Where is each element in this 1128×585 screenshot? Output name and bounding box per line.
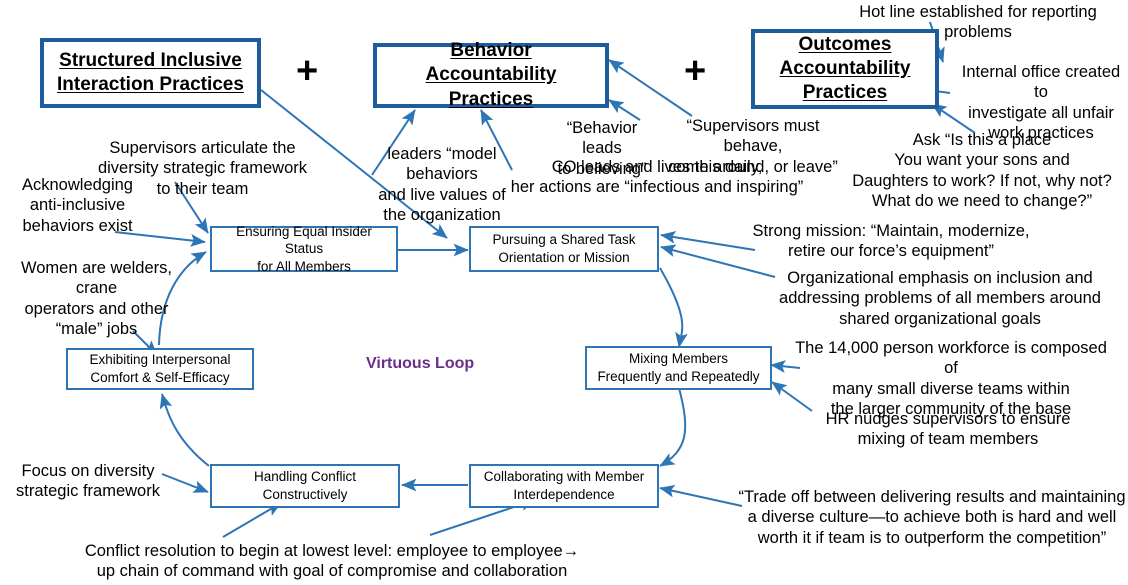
note-hotline: Hot line established for reporting probl… <box>828 2 1128 43</box>
pillar3-line2: Accountability <box>780 58 911 79</box>
pillar1-line2: Interaction Practices <box>57 74 244 95</box>
node-exhibiting-line2: Comfort & Self-Efficacy <box>90 370 229 385</box>
edge-pursuing-to-mixing <box>660 268 682 347</box>
note-conflict-resolution: Conflict resolution to begin at lowest l… <box>52 541 612 582</box>
note-acknowledging-anti-inclusive: Acknowledging anti-inclusive behaviors e… <box>10 175 145 236</box>
edge-tradeoff-to-collaborating <box>660 488 742 506</box>
edge-supervisors-to-pillar2 <box>609 60 692 116</box>
node-mixing-line2: Frequently and Repeatedly <box>597 369 759 384</box>
edge-conflictres-to-handling <box>223 503 281 537</box>
node-collaborating-member-interdependence[interactable]: Collaborating with Member Interdependenc… <box>469 464 659 508</box>
pillar2-line1: Behavior Accountability <box>426 40 557 85</box>
node-exhibiting-interpersonal-comfort[interactable]: Exhibiting Interpersonal Comfort & Self-… <box>66 348 254 390</box>
pillar1-line1: Structured Inclusive <box>59 50 242 71</box>
node-pursuing-line1: Pursuing a Shared Task <box>492 232 635 247</box>
edge-handling-to-exhibiting <box>162 394 209 466</box>
node-ensuring-line2: for All Members <box>257 259 351 274</box>
note-hr-nudges: HR nudges supervisors to ensure mixing o… <box>808 409 1088 450</box>
node-exhibiting-line1: Exhibiting Interpersonal <box>89 352 230 367</box>
pillar-structured-inclusive[interactable]: Structured Inclusive Interaction Practic… <box>40 38 261 108</box>
node-pursuing-shared-task[interactable]: Pursuing a Shared Task Orientation or Mi… <box>469 226 659 272</box>
node-handling-line2: Constructively <box>263 487 348 502</box>
node-handling-line1: Handling Conflict <box>254 469 356 484</box>
note-focus-on-diversity: Focus on diversity strategic framework <box>8 461 168 502</box>
node-collaborating-line1: Collaborating with Member <box>484 469 645 484</box>
pillar-behavior-accountability[interactable]: Behavior Accountability Practices <box>373 43 609 108</box>
edge-behaviorleads-to-pillar2 <box>609 100 640 120</box>
note-organizational-emphasis: Organizational emphasis on inclusion and… <box>770 268 1110 329</box>
virtuous-loop-label: Virtuous Loop <box>366 355 474 373</box>
node-ensuring-line1: Ensuring Equal Insider Status <box>236 224 372 257</box>
note-women-welders: Women are welders, crane operators and o… <box>0 258 193 340</box>
pillar2-line2: Practices <box>449 89 534 110</box>
pillar3-line3: Practices <box>803 82 888 103</box>
note-leaders-model-behaviors: leaders “model behaviors and live values… <box>352 144 532 226</box>
node-mixing-members[interactable]: Mixing Members Frequently and Repeatedly <box>585 346 772 390</box>
note-strong-mission: Strong mission: “Maintain, modernize, re… <box>726 221 1056 262</box>
plus-operator-2: + <box>684 52 706 90</box>
note-workforce-14000: The 14,000 person workforce is composed … <box>786 338 1116 420</box>
plus-operator-1: + <box>296 52 318 90</box>
diagram-canvas: Structured Inclusive Interaction Practic… <box>0 0 1128 585</box>
edge-mixing-to-collaborating <box>660 388 685 466</box>
node-mixing-line1: Mixing Members <box>629 351 728 366</box>
note-trade-off: “Trade off between delivering results an… <box>736 487 1128 548</box>
node-pursuing-line2: Orientation or Mission <box>498 250 629 265</box>
note-co-leads: CO leads and lives this daily, her actio… <box>507 157 807 198</box>
note-ask-is-this-a-place: Ask “Is this a place You want your sons … <box>846 130 1118 212</box>
node-collaborating-line2: Interdependence <box>513 487 614 502</box>
node-ensuring-equal-insider-status[interactable]: Ensuring Equal Insider Status for All Me… <box>210 226 398 272</box>
edge-focusdiversity-to-handling <box>162 474 208 492</box>
node-handling-conflict[interactable]: Handling Conflict Constructively <box>210 464 400 508</box>
